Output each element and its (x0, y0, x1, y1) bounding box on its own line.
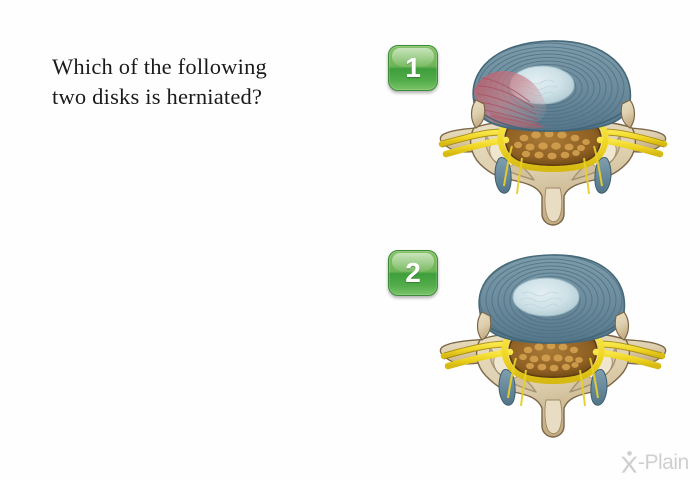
intervertebral-disc-normal (479, 255, 624, 345)
spinous-process (545, 400, 562, 434)
option-badge-1[interactable]: 1 (388, 45, 438, 91)
question-line-1: Which of the following (52, 52, 352, 82)
option-badge-2[interactable]: 2 (388, 250, 438, 296)
option-badge-2-number: 2 (389, 251, 437, 295)
question-text: Which of the following two disks is hern… (52, 52, 352, 113)
vertebra-illustration-2-normal[interactable] (438, 240, 668, 440)
x-plain-logo: -Plain (618, 447, 696, 477)
question-line-2: two disks is herniated? (52, 82, 352, 112)
spinous-process (545, 188, 562, 222)
x-plain-person-icon (618, 450, 640, 474)
nucleus-pulposus (513, 278, 579, 316)
intervertebral-disc-herniated (472, 41, 630, 133)
option-badge-1-number: 1 (389, 46, 437, 90)
logo-text: -Plain (638, 452, 689, 473)
vertebra-illustration-1-herniated[interactable] (438, 28, 668, 228)
